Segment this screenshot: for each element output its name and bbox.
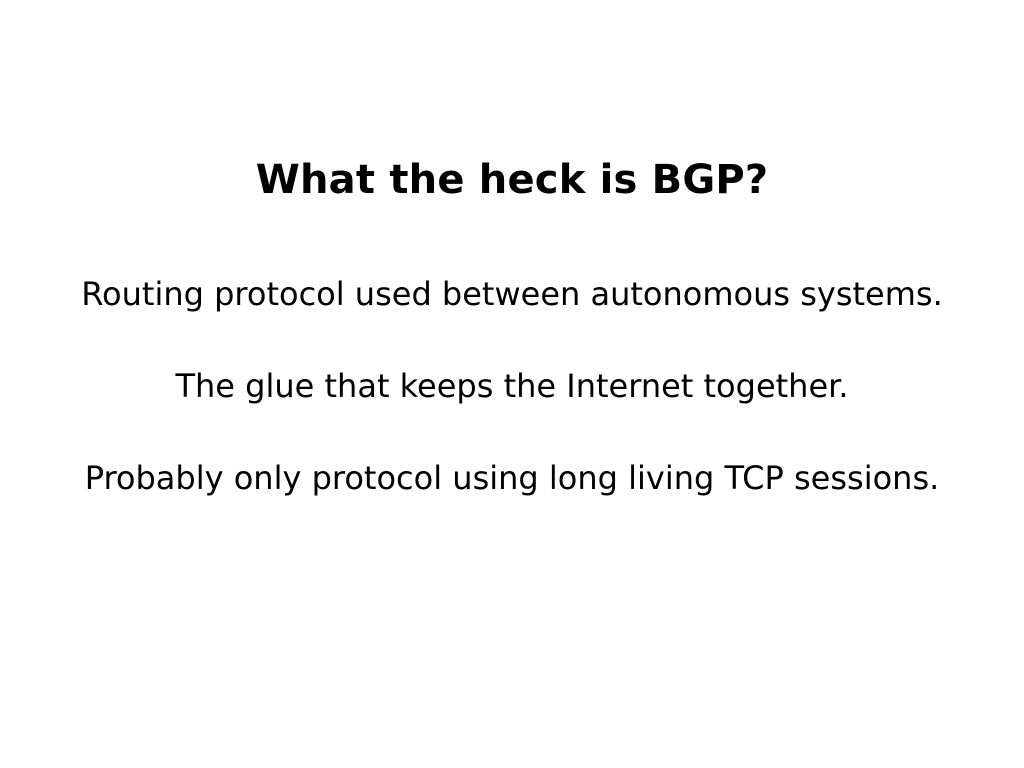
- slide-title: What the heck is BGP?: [0, 160, 1024, 200]
- slide-body-line-1: Routing protocol used between autonomous…: [0, 278, 1024, 310]
- presentation-slide: What the heck is BGP? Routing protocol u…: [0, 0, 1024, 768]
- slide-body-line-3: Probably only protocol using long living…: [0, 462, 1024, 494]
- slide-body-line-2: The glue that keeps the Internet togethe…: [0, 370, 1024, 402]
- slide-body-line-2-container: The glue that keeps the Internet togethe…: [0, 370, 1024, 402]
- slide-body-line-1-container: Routing protocol used between autonomous…: [0, 278, 1024, 310]
- slide-body-line-3-container: Probably only protocol using long living…: [0, 462, 1024, 494]
